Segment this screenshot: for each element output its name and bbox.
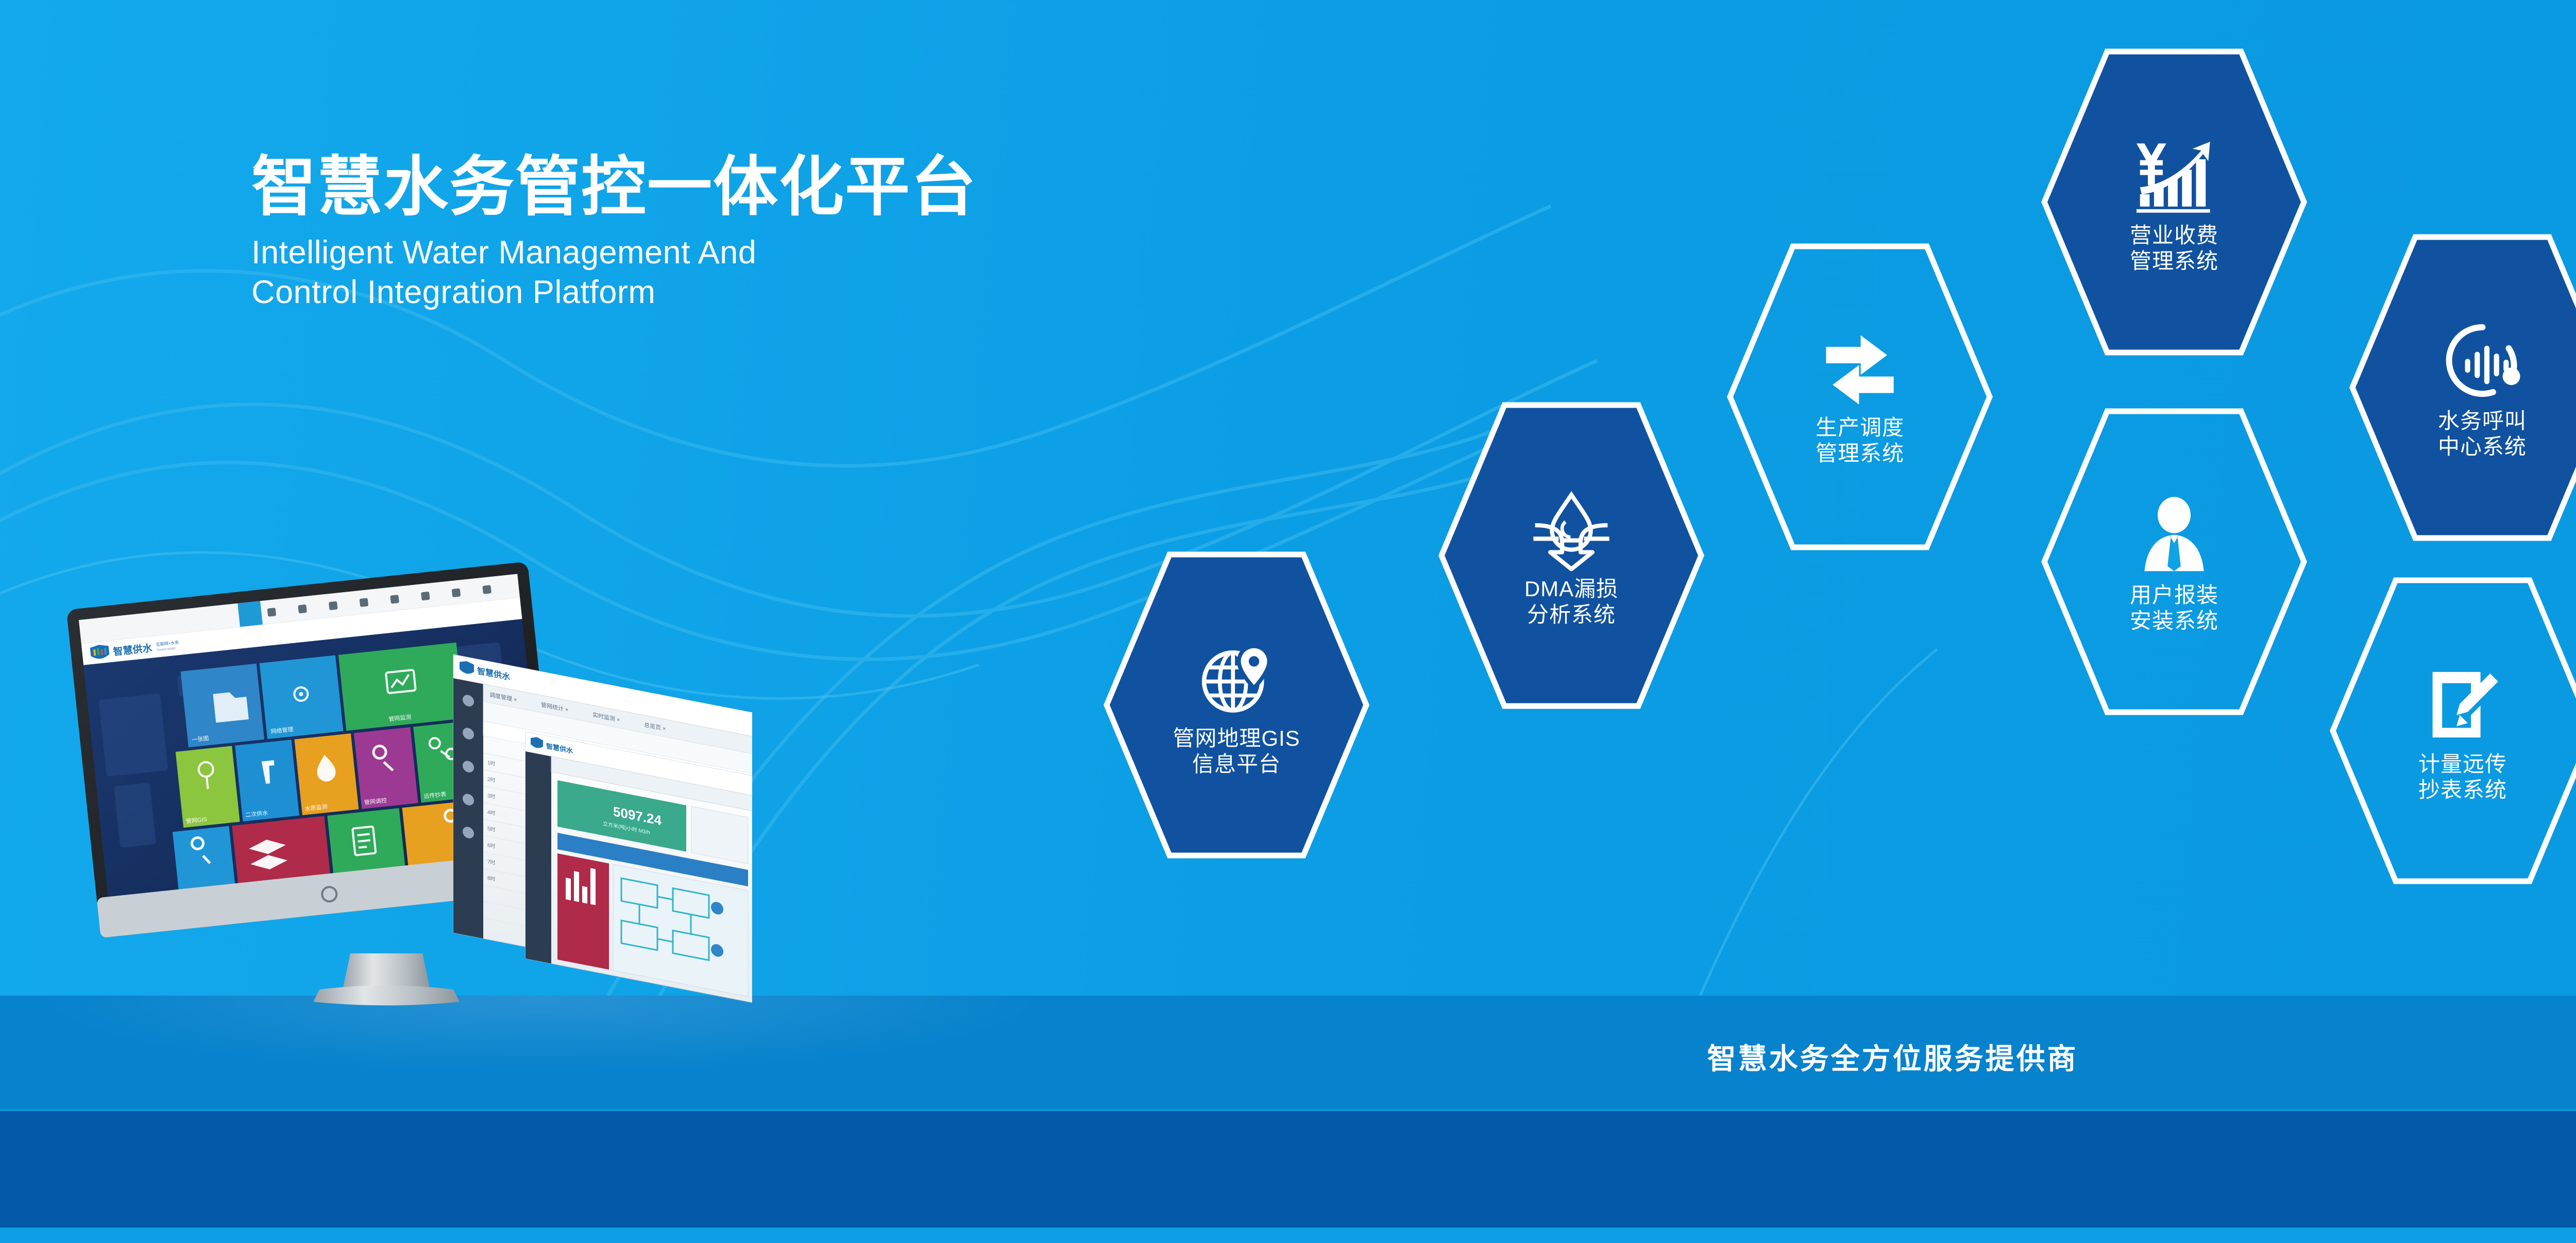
hex-label-meter: 计量远传 抄表系统 — [2418, 751, 2507, 802]
person-tie-icon — [2133, 493, 2215, 580]
hex-card-dma[interactable]: DMA漏损 分析系统 — [1437, 401, 1705, 710]
hex-card-gis[interactable]: 管网地理GIS 信息平台 — [1103, 550, 1370, 860]
hex-card-dispatch[interactable]: 生产调度 管理系统 — [1726, 242, 1994, 551]
headline-block: 智慧水务管控一体化平台 Intelligent Water Management… — [251, 155, 1385, 312]
footer-tagline-text: 智慧水务全方位服务提供商 — [1707, 1036, 2078, 1078]
page-title-en: Intelligent Water Management And Control… — [251, 233, 1385, 312]
document-pencil-icon — [2423, 662, 2503, 749]
hex-label-dma: DMA漏损 分析系统 — [1524, 576, 1618, 627]
page-subtitle-line2: Control Integration Platform — [251, 273, 1385, 312]
background-band-dark — [0, 1111, 2576, 1228]
footer-tagline: 智慧水务全方位服务提供商 — [0, 1036, 2576, 1078]
hex-label-gis: 管网地理GIS 信息平台 — [1173, 726, 1300, 777]
hex-label-billing: 营业收费 管理系统 — [2130, 223, 2218, 274]
hex-label-install: 用户报装 安装系统 — [2130, 582, 2218, 633]
yuan-growth-chart-icon — [2125, 133, 2223, 221]
page-subtitle-line1: Intelligent Water Management And — [251, 233, 1385, 273]
headset-waveform-icon — [2437, 318, 2528, 406]
banner-root: 智慧水务管控一体化平台 Intelligent Water Management… — [0, 0, 2576, 1243]
background-band-footer — [0, 1228, 2576, 1243]
page-title-cn: 智慧水务管控一体化平台 — [251, 155, 1385, 220]
hex-label-callcenter: 水务呼叫 中心系统 — [2438, 408, 2527, 459]
hex-card-callcenter[interactable]: 水务呼叫 中心系统 — [2348, 233, 2576, 542]
hex-card-billing[interactable]: 营业收费 管理系统 — [2040, 47, 2308, 357]
hex-card-meter[interactable]: 计量远传 抄表系统 — [2329, 576, 2576, 885]
two-way-arrows-icon — [1814, 330, 1906, 413]
device-mockup-illustration: 智慧供水 互联网+水务 Smart water — [62, 526, 752, 1020]
globe-pin-icon — [1193, 636, 1280, 724]
hex-card-install[interactable]: 用户报装 安装系统 — [2040, 407, 2308, 716]
hex-label-dispatch: 生产调度 管理系统 — [1816, 415, 1904, 466]
water-drop-down-arrow-icon — [1525, 486, 1618, 574]
